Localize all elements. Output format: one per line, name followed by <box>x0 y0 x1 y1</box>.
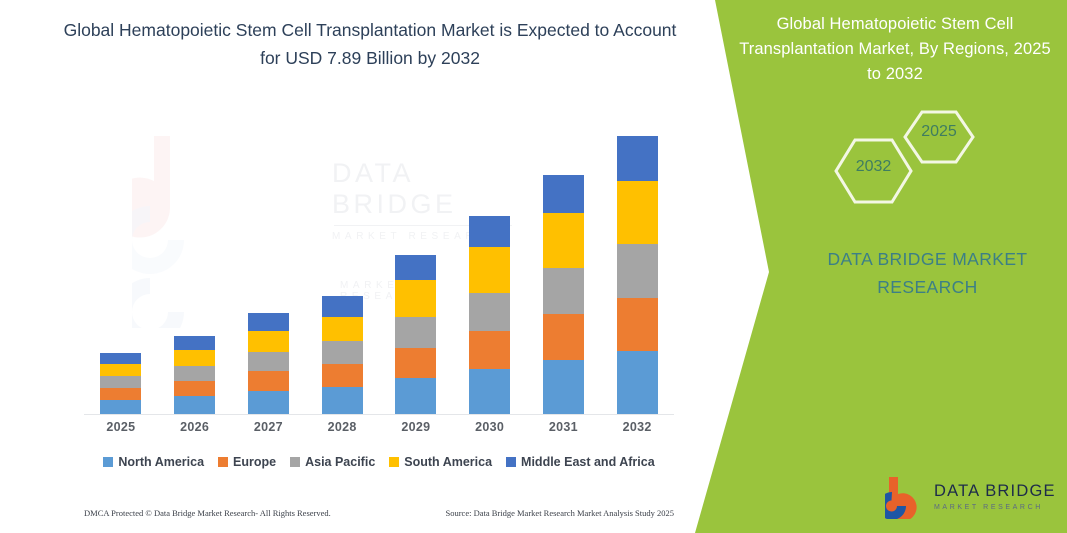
legend-swatch-icon <box>506 457 516 467</box>
dbmr-logo-sub: MARKET RESEARCH <box>934 504 1056 511</box>
hex-label-2032: 2032 <box>836 158 911 176</box>
x-tick-2029: 2029 <box>379 420 453 434</box>
panel-brand: DATA BRIDGE MARKET RESEARCH <box>790 245 1065 301</box>
bar-segment-middle-east-and-africa[interactable] <box>100 353 141 364</box>
hexagon-badges: 2025 2032 <box>815 110 1015 205</box>
bar-column-2025 <box>84 120 158 414</box>
bar-segment-asia-pacific[interactable] <box>322 341 363 364</box>
bar-segment-south-america[interactable] <box>395 280 436 317</box>
x-tick-2028: 2028 <box>305 420 379 434</box>
bar-segment-north-america[interactable] <box>322 387 363 414</box>
bar-segment-north-america[interactable] <box>617 351 658 414</box>
legend-label: North America <box>118 455 204 469</box>
dbmr-logo-mark-icon <box>885 475 925 519</box>
x-tick-2026: 2026 <box>158 420 232 434</box>
stacked-bar[interactable] <box>469 216 510 414</box>
bar-segment-north-america[interactable] <box>469 369 510 414</box>
legend-label: Asia Pacific <box>305 455 375 469</box>
bar-segment-europe[interactable] <box>395 348 436 378</box>
page-title: Global Hematopoietic Stem Cell Transplan… <box>60 16 680 72</box>
x-tick-2030: 2030 <box>453 420 527 434</box>
legend-swatch-icon <box>290 457 300 467</box>
dbmr-logo-main: DATA BRIDGE <box>934 483 1056 500</box>
bar-segment-middle-east-and-africa[interactable] <box>174 336 215 350</box>
legend-label: Europe <box>233 455 276 469</box>
legend-item-north-america[interactable]: North America <box>103 455 204 469</box>
bar-segment-asia-pacific[interactable] <box>469 293 510 331</box>
bar-segment-middle-east-and-africa[interactable] <box>322 296 363 317</box>
bar-segment-asia-pacific[interactable] <box>100 376 141 388</box>
legend-item-middle-east-and-africa[interactable]: Middle East and Africa <box>506 455 655 469</box>
stacked-bar[interactable] <box>617 136 658 414</box>
bar-segment-middle-east-and-africa[interactable] <box>543 175 584 213</box>
bar-column-2032 <box>600 120 674 414</box>
bar-segment-asia-pacific[interactable] <box>543 268 584 314</box>
bar-segment-south-america[interactable] <box>100 364 141 376</box>
legend-item-europe[interactable]: Europe <box>218 455 276 469</box>
stacked-bar[interactable] <box>322 296 363 414</box>
bar-segment-south-america[interactable] <box>248 331 289 352</box>
bar-column-2026 <box>158 120 232 414</box>
bar-segment-south-america[interactable] <box>174 350 215 366</box>
stacked-bar[interactable] <box>100 353 141 414</box>
panel-brand-line2: RESEARCH <box>790 273 1065 301</box>
chart-legend[interactable]: North AmericaEuropeAsia PacificSouth Ame… <box>84 455 674 469</box>
bar-segment-europe[interactable] <box>543 314 584 360</box>
bar-segment-south-america[interactable] <box>543 213 584 268</box>
x-axis-labels: 20252026202720282029203020312032 <box>84 420 674 434</box>
x-axis-line <box>84 414 674 415</box>
bar-column-2029 <box>379 120 453 414</box>
stacked-bar[interactable] <box>174 336 215 414</box>
legend-swatch-icon <box>103 457 113 467</box>
bar-segment-middle-east-and-africa[interactable] <box>469 216 510 247</box>
x-tick-2032: 2032 <box>600 420 674 434</box>
legend-swatch-icon <box>218 457 228 467</box>
bar-segment-europe[interactable] <box>248 371 289 391</box>
bar-column-2030 <box>453 120 527 414</box>
stacked-bar[interactable] <box>248 313 289 414</box>
legend-label: South America <box>404 455 492 469</box>
x-tick-2025: 2025 <box>84 420 158 434</box>
bar-segment-north-america[interactable] <box>543 360 584 414</box>
bar-segment-north-america[interactable] <box>248 391 289 414</box>
bar-segment-europe[interactable] <box>322 364 363 387</box>
bar-segment-asia-pacific[interactable] <box>174 366 215 381</box>
legend-item-asia-pacific[interactable]: Asia Pacific <box>290 455 375 469</box>
bar-column-2027 <box>232 120 306 414</box>
hex-label-2025: 2025 <box>905 123 973 141</box>
bar-segment-north-america[interactable] <box>100 400 141 414</box>
bar-segment-europe[interactable] <box>174 381 215 396</box>
bar-column-2031 <box>527 120 601 414</box>
bar-segment-asia-pacific[interactable] <box>617 244 658 298</box>
bar-segment-europe[interactable] <box>469 331 510 369</box>
bar-segment-south-america[interactable] <box>617 181 658 244</box>
footer-copyright: DMCA Protected © Data Bridge Market Rese… <box>84 508 331 518</box>
x-tick-2027: 2027 <box>232 420 306 434</box>
legend-item-south-america[interactable]: South America <box>389 455 492 469</box>
bar-segment-europe[interactable] <box>617 298 658 351</box>
footer-source: Source: Data Bridge Market Research Mark… <box>445 508 674 518</box>
dbmr-logo-text: DATA BRIDGE MARKET RESEARCH <box>934 483 1056 511</box>
bar-segment-south-america[interactable] <box>322 317 363 341</box>
panel-brand-line1: DATA BRIDGE MARKET <box>790 245 1065 273</box>
bar-segment-middle-east-and-africa[interactable] <box>395 255 436 280</box>
bar-segment-asia-pacific[interactable] <box>248 352 289 371</box>
bar-chart-plot <box>84 120 674 414</box>
bar-segment-south-america[interactable] <box>469 247 510 293</box>
x-tick-2031: 2031 <box>527 420 601 434</box>
bar-segment-middle-east-and-africa[interactable] <box>617 136 658 181</box>
bar-segment-north-america[interactable] <box>395 378 436 414</box>
panel-title: Global Hematopoietic Stem Cell Transplan… <box>735 12 1055 87</box>
legend-swatch-icon <box>389 457 399 467</box>
bar-segment-europe[interactable] <box>100 388 141 400</box>
bar-segment-middle-east-and-africa[interactable] <box>248 313 289 331</box>
stacked-bar[interactable] <box>543 175 584 414</box>
bar-segment-asia-pacific[interactable] <box>395 317 436 348</box>
infographic-root: Global Hematopoietic Stem Cell Transplan… <box>0 0 1067 533</box>
legend-label: Middle East and Africa <box>521 455 655 469</box>
footer: DMCA Protected © Data Bridge Market Rese… <box>84 508 674 518</box>
dbmr-logo: DATA BRIDGE MARKET RESEARCH <box>885 475 1056 519</box>
stacked-bar[interactable] <box>395 255 436 414</box>
bar-segment-north-america[interactable] <box>174 396 215 414</box>
bar-column-2028 <box>305 120 379 414</box>
